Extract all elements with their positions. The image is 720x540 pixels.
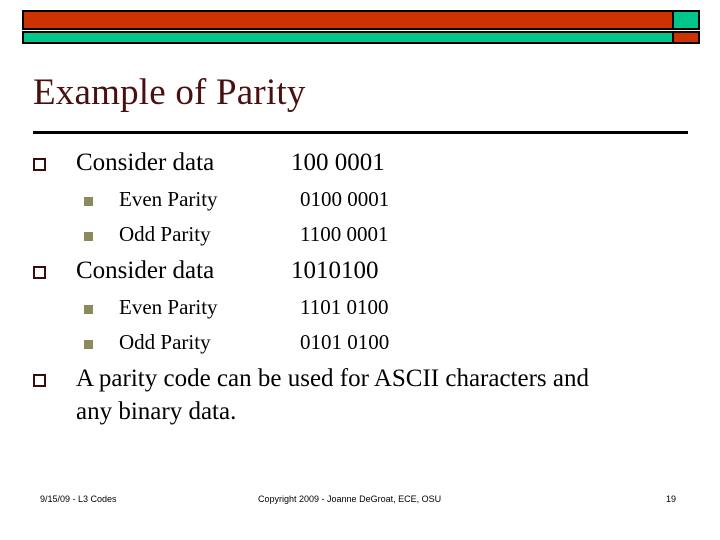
bullet-item-level1: A parity code can be used for ASCII char… (33, 363, 693, 428)
bullet-level2-value: 1100 0001 (300, 220, 388, 248)
bullet-level2-label: Even Parity (119, 293, 300, 321)
title-underline-rule (33, 131, 688, 134)
hollow-square-bullet-icon (33, 266, 46, 279)
bullet-item-level1: Consider data 1010100 (33, 255, 693, 288)
sub-bullet-list: Even Parity 1101 0100 Odd Parity 0101 01… (33, 293, 693, 357)
header-bar-bottom-cap (672, 33, 698, 42)
closing-statement: A parity code can be used for ASCII char… (76, 363, 693, 428)
header-bar-top-main (24, 12, 672, 28)
hollow-square-bullet-icon (33, 374, 46, 387)
header-bar-bottom (22, 31, 700, 44)
filled-square-bullet-icon (84, 340, 93, 349)
bullet-item-level2: Even Parity 0100 0001 (33, 185, 693, 213)
footer-date-lecture: 9/15/09 - L3 Codes (40, 494, 117, 504)
header-bar-bottom-main (24, 33, 672, 42)
slide-footer: 9/15/09 - L3 Codes Copyright 2009 - Joan… (0, 494, 720, 510)
sub-bullet-list: Even Parity 0100 0001 Odd Parity 1100 00… (33, 185, 693, 249)
bullet-level2-value: 1101 0100 (300, 293, 388, 321)
bullet-level1-value: 1010100 (291, 255, 379, 288)
filled-square-bullet-icon (84, 197, 93, 206)
bullet-level2-label: Odd Parity (119, 328, 300, 356)
bullet-level1-value: 100 0001 (291, 147, 385, 180)
bullet-item-level2: Odd Parity 0101 0100 (33, 328, 693, 356)
bullet-item-level2: Even Parity 1101 0100 (33, 293, 693, 321)
footer-copyright: Copyright 2009 - Joanne DeGroat, ECE, OS… (258, 494, 441, 504)
header-decoration-bars (22, 10, 700, 44)
bullet-level2-value: 0100 0001 (300, 185, 389, 213)
hollow-square-bullet-icon (33, 158, 46, 171)
page-title: Example of Parity (33, 74, 693, 113)
filled-square-bullet-icon (84, 305, 93, 314)
bullet-level2-label: Even Parity (119, 185, 300, 213)
bullet-level1-label: Consider data (76, 255, 291, 288)
footer-page-number: 19 (666, 494, 676, 504)
slide-content: Consider data 100 0001 Even Parity 0100 … (33, 147, 693, 430)
bullet-level1-label: Consider data (76, 147, 291, 180)
filled-square-bullet-icon (84, 232, 93, 241)
bullet-level2-value: 0101 0100 (300, 328, 389, 356)
header-bar-top-cap (672, 12, 698, 28)
header-bar-top (22, 10, 700, 30)
bullet-item-level1: Consider data 100 0001 (33, 147, 693, 180)
bullet-level2-label: Odd Parity (119, 220, 300, 248)
bullet-item-level2: Odd Parity 1100 0001 (33, 220, 693, 248)
